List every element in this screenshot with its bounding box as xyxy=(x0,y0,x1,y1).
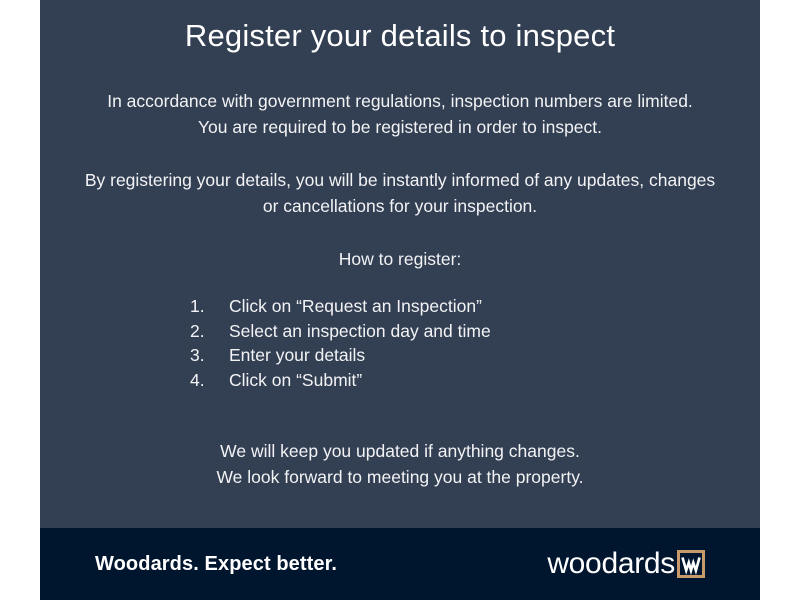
how-to-register-heading: How to register: xyxy=(40,219,760,272)
list-item: 2. Select an inspection day and time xyxy=(40,319,760,344)
intro-line-2: You are required to be registered in ord… xyxy=(198,117,602,137)
step-text: Click on “Submit” xyxy=(229,368,760,393)
closing-line-2: We look forward to meeting you at the pr… xyxy=(216,467,583,487)
updates-line-2: or cancellations for your inspection. xyxy=(263,196,537,216)
step-text: Select an inspection day and time xyxy=(229,319,760,344)
footer-tagline: Woodards. Expect better. xyxy=(95,553,337,576)
updates-line-1: By registering your details, you will be… xyxy=(85,170,715,190)
intro-paragraph: In accordance with government regulation… xyxy=(40,88,760,140)
step-number: 3. xyxy=(190,343,229,368)
page-title: Register your details to inspect xyxy=(40,0,760,53)
step-number: 1. xyxy=(190,294,229,319)
list-item: 4. Click on “Submit” xyxy=(40,368,760,393)
brand-wordmark: woodards xyxy=(547,549,675,579)
brand-logo: woodards xyxy=(547,549,705,579)
step-number: 2. xyxy=(190,319,229,344)
closing-paragraph: We will keep you updated if anything cha… xyxy=(40,438,760,490)
updates-paragraph: By registering your details, you will be… xyxy=(40,167,760,219)
closing-line-1: We will keep you updated if anything cha… xyxy=(220,441,580,461)
woodards-w-logo-icon xyxy=(677,550,705,578)
list-item: 3. Enter your details xyxy=(40,343,760,368)
footer-bar: Woodards. Expect better. woodards xyxy=(40,528,760,600)
registration-steps-list: 1. Click on “Request an Inspection” 2. S… xyxy=(40,272,760,392)
step-text: Click on “Request an Inspection” xyxy=(229,294,760,319)
intro-line-1: In accordance with government regulation… xyxy=(107,91,693,111)
list-item: 1. Click on “Request an Inspection” xyxy=(40,294,760,319)
step-text: Enter your details xyxy=(229,343,760,368)
step-number: 4. xyxy=(190,368,229,393)
poster-content: Register your details to inspect In acco… xyxy=(40,0,760,528)
inspection-registration-poster: Register your details to inspect In acco… xyxy=(40,0,760,600)
